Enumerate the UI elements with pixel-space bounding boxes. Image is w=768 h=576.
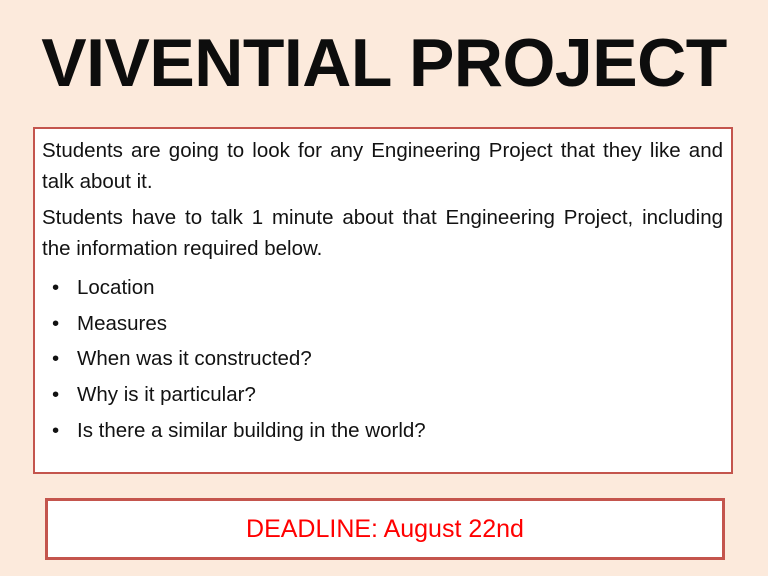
list-item: • Why is it particular? [42,377,723,413]
bullet-icon: • [52,341,64,377]
page-title: VIVENTIAL PROJECT [0,22,768,104]
list-item-label: Measures [77,312,167,335]
bullet-icon: • [52,270,64,306]
instruction-paragraph-1: Students are going to look for any Engin… [42,136,723,197]
instruction-paragraph-2: Students have to talk 1 minute about tha… [42,203,723,264]
instructions-panel: Students are going to look for any Engin… [33,127,733,474]
requirements-list: • Location • Measures • When was it cons… [42,270,723,449]
list-item: • Location [42,270,723,306]
bullet-icon: • [52,377,64,413]
bullet-icon: • [52,306,64,342]
instructions-content: Students are going to look for any Engin… [35,129,731,449]
deadline-panel: DEADLINE: August 22nd [45,498,725,560]
list-item-label: Is there a similar building in the world… [77,419,426,442]
list-item-label: When was it constructed? [77,347,312,370]
slide-canvas: VIVENTIAL PROJECT Students are going to … [0,0,768,576]
list-item: • Is there a similar building in the wor… [42,413,723,449]
deadline-text: DEADLINE: August 22nd [246,517,524,542]
list-item: • Measures [42,306,723,342]
bullet-icon: • [52,413,64,449]
list-item-label: Location [77,276,155,299]
list-item: • When was it constructed? [42,341,723,377]
list-item-label: Why is it particular? [77,383,256,406]
